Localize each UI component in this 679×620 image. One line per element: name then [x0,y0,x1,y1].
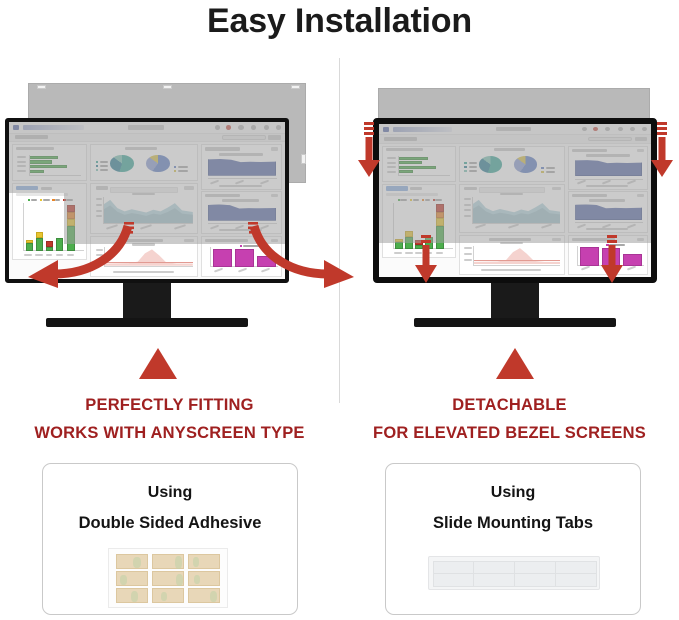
bar-item [213,249,232,268]
bar-item [399,157,428,160]
legend-label [413,199,419,201]
adhesive-pad [188,588,220,603]
adhesive-pad [116,554,148,569]
legend-label [100,169,108,171]
card-horizontal-bars [382,146,455,182]
card-title [464,187,476,191]
y-axis [29,155,30,176]
x-axis [29,175,82,176]
axis-tick-label [508,224,519,229]
up-triangle-icon [496,348,534,379]
axis-tick-label [464,247,471,249]
bar-item [29,156,58,159]
chart-subtitle [219,153,263,156]
chart-dropdown[interactable] [110,187,177,193]
bar-item [29,160,52,163]
axis-label [586,185,628,187]
axis-tick-label [210,224,220,229]
bar-item [399,161,422,164]
card-peak-event [459,235,565,275]
legend-swatch [410,199,412,201]
grid-icon[interactable] [618,127,623,132]
axis-tick-label [96,198,102,200]
info-box-right: Using Slide Mounting Tabs [385,463,641,615]
column-group [395,204,402,249]
box-title: Using [43,484,297,502]
legend-swatch [96,165,98,167]
y-axis [472,197,473,224]
caption-line-1: DETACHABLE [340,396,679,415]
axis-label [219,185,262,187]
card-menu-icon[interactable] [184,186,194,190]
card-menu-icon[interactable] [552,187,561,191]
card-volume-band-a [201,144,282,189]
caption-line-1: PERFECTLY FITTING [0,396,339,415]
axis-tick-label [96,204,102,206]
bar-item [399,166,436,169]
y-axis [393,203,394,249]
adhesive-pad [188,571,220,586]
bar-item [623,254,642,265]
card-subtitle [410,187,421,190]
axis-tick-label [174,224,186,229]
legend-swatch [433,199,435,201]
chart-legend [132,193,155,195]
legend-label [178,170,188,172]
panel-left: PERFECTLY FITTING WORKS WITH ANYSCREEN T… [0,0,339,620]
down-arrow-inner-left [413,235,439,287]
axis-tick-label [405,252,413,254]
card-title [205,194,240,197]
tab-segment [433,561,597,587]
axis-tick-label [17,165,26,167]
y-axis [473,246,474,266]
more-actions-icon[interactable] [635,137,647,141]
axis-tick-label [464,259,471,261]
axis-tick-label [464,253,471,255]
app-brand-title [23,125,84,130]
card-menu-icon[interactable] [184,239,194,242]
legend-label [425,199,430,201]
stacked-bar [405,231,412,249]
chart-legend [500,193,523,195]
axis-tick-label [577,223,586,228]
adhesive-pad [152,588,184,603]
card-horizontal-bars [12,144,87,181]
axis-label [481,269,541,271]
y-axis [398,156,399,176]
filter-control[interactable] [386,193,437,197]
legend-swatch [96,169,98,171]
reference-line [473,260,560,261]
area-series [575,204,642,220]
adhesive-pad-sheet [108,548,228,608]
legend-swatch [40,199,42,201]
axis-tick-label [626,180,635,185]
card-title [16,186,38,190]
tab-divider [473,562,474,586]
area-plot [473,246,560,264]
legend-label [435,199,441,201]
filter-dropdown[interactable] [222,135,266,139]
grid-icon[interactable] [251,125,256,130]
app-logo-icon [13,125,19,130]
pie-chart [110,155,133,172]
legend-label [400,199,406,201]
y-axis [210,247,211,267]
more-actions-icon[interactable] [268,135,280,139]
legend-swatch [28,199,30,201]
filter-tab-icon [291,85,300,89]
bar-item [29,165,67,168]
axis-tick-label [464,209,470,211]
user-avatar[interactable] [276,125,281,130]
area-series [208,158,276,175]
legend-swatch [63,199,65,201]
curved-arrow-left [20,222,150,287]
stacked-bar [395,239,402,250]
dashboard-subbar [9,134,285,143]
pie-chart [479,156,502,172]
down-arrow-inner-right [599,235,625,287]
card-title [386,186,407,190]
card-title [205,147,240,150]
monitor-stand-neck [123,283,171,321]
legend-label [100,165,108,167]
chart-subtitle [222,199,258,202]
legend-swatch [422,199,424,201]
area-plot [472,197,560,224]
legend-label [546,171,555,173]
filter-control[interactable] [16,193,68,197]
card-title [572,149,607,152]
axis-tick-label [464,215,470,217]
monitor-stand-base [46,318,248,327]
legend-swatch [541,171,543,173]
alert-icon[interactable] [226,125,231,130]
axis-tick-label [464,204,470,206]
breadcrumb[interactable] [15,135,48,139]
axis-tick-label [627,266,636,271]
bar-segment-red [67,205,75,213]
card-volume-band-a [568,146,648,190]
axis-tick-label [581,266,590,271]
up-triangle-icon [139,348,177,379]
adhesive-pad [116,588,148,603]
filter-dropdown[interactable] [588,137,632,141]
card-title [16,147,54,150]
box-subtitle: Double Sided Adhesive [43,514,297,533]
area-plot [103,197,193,225]
axis-tick-label [235,179,245,184]
axis-tick-label [387,162,396,164]
legend-label [31,199,38,201]
card-subtitle [41,187,53,190]
dashboard-heading [128,125,164,130]
caption-line-2: WORKS WITH ANYSCREEN TYPE [0,424,339,443]
axis-tick-label [96,210,102,212]
axis-tick-label [464,198,470,200]
panel-right: DETACHABLE FOR ELEVATED BEZEL SCREENS Us… [340,0,679,620]
axis-tick-label [96,215,102,217]
area-series-upper [103,197,193,225]
bar-item [580,247,599,265]
axis-tick-label [475,224,486,229]
caption-line-2: FOR ELEVATED BEZEL SCREENS [340,424,679,443]
filter-tab-icon [163,85,172,89]
card-title [489,238,531,241]
card-volume-band-b [568,191,648,233]
adhesive-pad [152,571,184,586]
bar-segment-green [395,242,402,250]
legend-swatch [464,162,466,164]
legend-label [43,199,50,201]
legend-swatch [174,170,176,172]
tab-divider [514,562,515,586]
x-axis [473,265,560,266]
bar-segment-yellow [436,218,444,225]
axis-tick-label [387,171,396,173]
axis-tick-label [387,166,396,168]
card-menu-icon[interactable] [271,147,278,150]
y-axis [577,246,578,265]
bar-item [29,170,44,173]
legend-swatch [174,166,176,168]
legend-swatch [464,170,466,172]
axis-tick-label [541,224,552,229]
card-pie-charts [459,146,565,182]
monitor-stand-neck [491,283,539,321]
axis-tick-label [17,156,26,158]
axis-tick-label [394,252,402,254]
column-group [405,204,412,249]
settings-icon[interactable] [215,125,220,130]
dashboard-topbar [9,122,285,134]
card-menu-icon[interactable] [637,194,644,197]
legend-swatch [398,199,400,201]
card-menu-icon[interactable] [637,238,644,241]
poster-root: Easy Installation [0,0,679,620]
tab-divider [434,573,596,574]
legend-label [469,162,477,164]
area-series [208,204,276,220]
chart-subtitle [586,154,630,157]
adhesive-pad [152,554,184,569]
legend-swatch [464,166,466,168]
bar-segment-red [436,204,444,212]
down-arrow-outer-right [649,122,675,178]
axis-tick-label [17,170,26,172]
card-pie-charts [90,144,198,181]
breadcrumb[interactable] [384,137,417,141]
area-series [473,246,560,264]
tab-divider [555,562,556,586]
dashboard-subbar [379,135,651,143]
axis-label [586,228,628,230]
dashboard-topbar [379,124,651,135]
monitor-stand-base [414,318,616,327]
topbar-icon-group[interactable] [215,125,281,130]
area-series [575,159,642,176]
box-title: Using [386,484,640,502]
card-menu-icon[interactable] [637,149,644,152]
legend-label [469,166,477,168]
legend-label [66,199,73,201]
card-title [96,186,109,190]
card-menu-icon[interactable] [552,238,561,241]
axis-tick-label [214,268,224,273]
box-subtitle: Slide Mounting Tabs [386,514,640,533]
help-icon[interactable] [630,127,635,132]
pie-chart [514,156,537,172]
card-title [494,148,525,151]
info-box-left: Using Double Sided Adhesive [42,463,298,615]
card-title [125,147,157,150]
alert-icon[interactable] [593,127,598,132]
adhesive-pad [116,571,148,586]
chart-subtitle [589,199,625,202]
area-series-upper [472,197,560,224]
bell-icon[interactable] [238,125,243,130]
app-logo-icon [383,127,389,132]
card-trend-area [459,184,565,233]
pie-chart [146,155,169,172]
legend-label [178,166,188,168]
axis-tick-label [210,179,220,184]
card-title [572,194,607,197]
topbar-icon-group[interactable] [582,127,647,132]
legend-swatch [541,167,543,169]
dashboard-heading [496,127,531,132]
axis-tick-label [387,157,396,159]
filter-tab-icon [301,154,306,164]
card-title [386,148,423,151]
adhesive-pad [188,554,220,569]
card-menu-icon[interactable] [271,194,278,197]
app-brand-title [393,127,453,132]
legend-label [55,199,60,201]
bar-item [399,170,413,173]
user-avatar[interactable] [642,127,647,132]
bell-icon[interactable] [605,127,610,132]
filter-tab-icon [37,85,46,89]
y-axis [103,197,104,225]
x-axis [398,175,450,176]
legend-label [546,167,555,169]
legend-label [100,161,108,163]
bar-segment-green [405,237,412,249]
axis-tick-label [577,180,586,185]
axis-tick-label [602,180,611,185]
legend-swatch [52,199,54,201]
axis-tick-label [17,161,26,163]
legend-swatch [96,161,98,163]
chart-legend [500,242,523,244]
slide-mounting-tab-strip [428,556,600,590]
down-arrow-outer-left [356,122,382,178]
axis-tick-label [260,179,270,184]
settings-icon[interactable] [582,127,587,132]
help-icon[interactable] [264,125,269,130]
legend-label [469,170,477,172]
